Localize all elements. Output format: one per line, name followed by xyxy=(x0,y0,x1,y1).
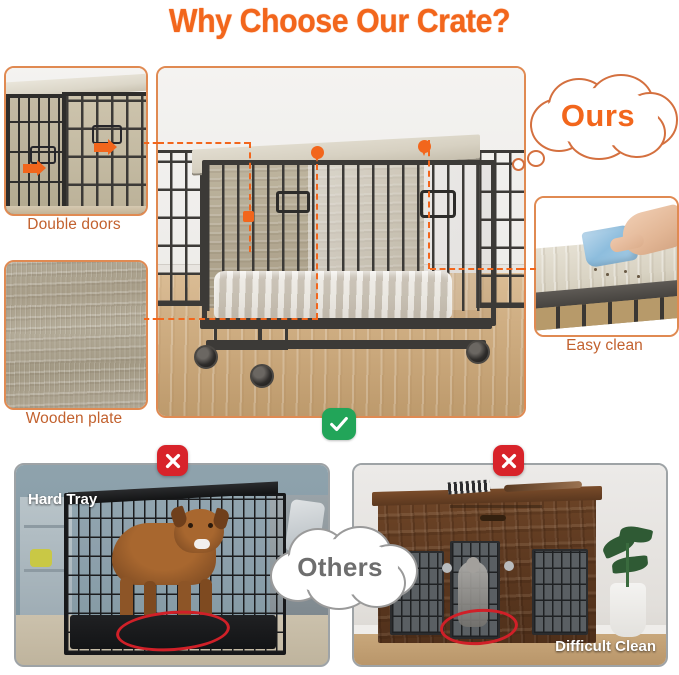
green-check-badge xyxy=(322,408,356,440)
connector-wooden-plate-rise xyxy=(316,164,318,319)
base-vent-2 xyxy=(258,326,288,350)
connector-double-doors-drop xyxy=(249,142,251,252)
connector-easy-clean-rise xyxy=(428,140,430,269)
crumb-2 xyxy=(606,273,609,276)
marker-pin-top-center xyxy=(311,146,324,159)
connector-double-doors-inner xyxy=(158,142,250,144)
feature-panel-wooden-plate xyxy=(4,260,148,410)
red-cross-badge-right xyxy=(493,445,524,476)
dog-inside-head xyxy=(466,557,480,573)
connector-double-doors xyxy=(144,142,158,144)
hinge-left xyxy=(442,563,452,573)
double-doors-arrow-2 xyxy=(94,143,108,152)
caption-easy-clean: Easy clean xyxy=(534,337,675,355)
ours-label: Ours xyxy=(561,98,635,134)
main-product-panel xyxy=(156,66,526,418)
hinge-right xyxy=(504,561,514,571)
drawer-line xyxy=(450,505,542,508)
caster-front-center xyxy=(250,364,274,388)
crumb-3 xyxy=(624,270,627,273)
plant-leaf-3 xyxy=(611,555,648,574)
ours-bubble-trail-1 xyxy=(527,150,545,167)
double-doors-arrowhead-1 xyxy=(37,160,46,176)
latch-right xyxy=(92,125,122,144)
plant-pot xyxy=(610,583,646,637)
main-product-photo xyxy=(158,68,524,416)
double-doors-arrowhead-2 xyxy=(108,139,117,155)
connector-easy-clean xyxy=(520,268,536,270)
hard-tray-label: Hard Tray xyxy=(28,491,97,508)
connector-wooden-plate xyxy=(144,318,158,320)
caption-double-doors: Double doors xyxy=(4,216,144,234)
plant-stem xyxy=(626,543,629,587)
double-doors-photo xyxy=(6,68,146,214)
ours-speech-bubble: Ours xyxy=(518,72,678,160)
others-label: Others xyxy=(297,552,383,583)
red-cross-badge-left xyxy=(157,445,188,476)
feature-panel-easy-clean xyxy=(534,196,679,337)
difficult-clean-label: Difficult Clean xyxy=(555,638,656,655)
drawer-handle xyxy=(480,515,506,521)
dog-eye-left xyxy=(188,523,193,528)
right-door-crossbars xyxy=(66,96,148,214)
double-doors-arrow-1 xyxy=(23,164,37,173)
shelf-divider-2 xyxy=(24,569,68,572)
wooden-plate-photo xyxy=(6,262,146,408)
caster-right xyxy=(466,340,490,364)
left-wing-crossbars xyxy=(156,153,207,303)
dog-muzzle xyxy=(194,539,210,549)
door-latch-upper xyxy=(276,191,310,213)
ours-bubble-trail-2 xyxy=(512,158,525,171)
shelf-divider-1 xyxy=(24,525,68,528)
check-icon xyxy=(328,413,350,435)
base-vent-1 xyxy=(214,326,262,350)
connector-easy-clean-inner xyxy=(430,268,522,270)
dog-eye-right xyxy=(208,523,213,528)
crumb-1 xyxy=(594,268,597,271)
easy-clean-photo xyxy=(536,198,677,335)
infographic-root: Why Choose Our Crate? xyxy=(0,0,679,675)
others-speech-bubble: Others xyxy=(262,524,418,610)
connector-wooden-plate-inner xyxy=(158,318,318,320)
caster-front-left xyxy=(194,345,218,369)
right-door xyxy=(62,92,148,216)
side-latch xyxy=(420,190,456,218)
mesh-window-right xyxy=(532,549,588,635)
cross-icon xyxy=(499,451,519,471)
cross-icon xyxy=(163,451,183,471)
floor-strip xyxy=(6,206,146,214)
pet-cushion xyxy=(214,271,452,319)
page-title: Why Choose Our Crate? xyxy=(27,2,652,40)
caption-wooden-plate: Wooden plate xyxy=(4,410,144,428)
flowers xyxy=(30,549,52,567)
feature-panel-double-doors xyxy=(4,66,148,216)
crumb-4 xyxy=(637,275,640,278)
